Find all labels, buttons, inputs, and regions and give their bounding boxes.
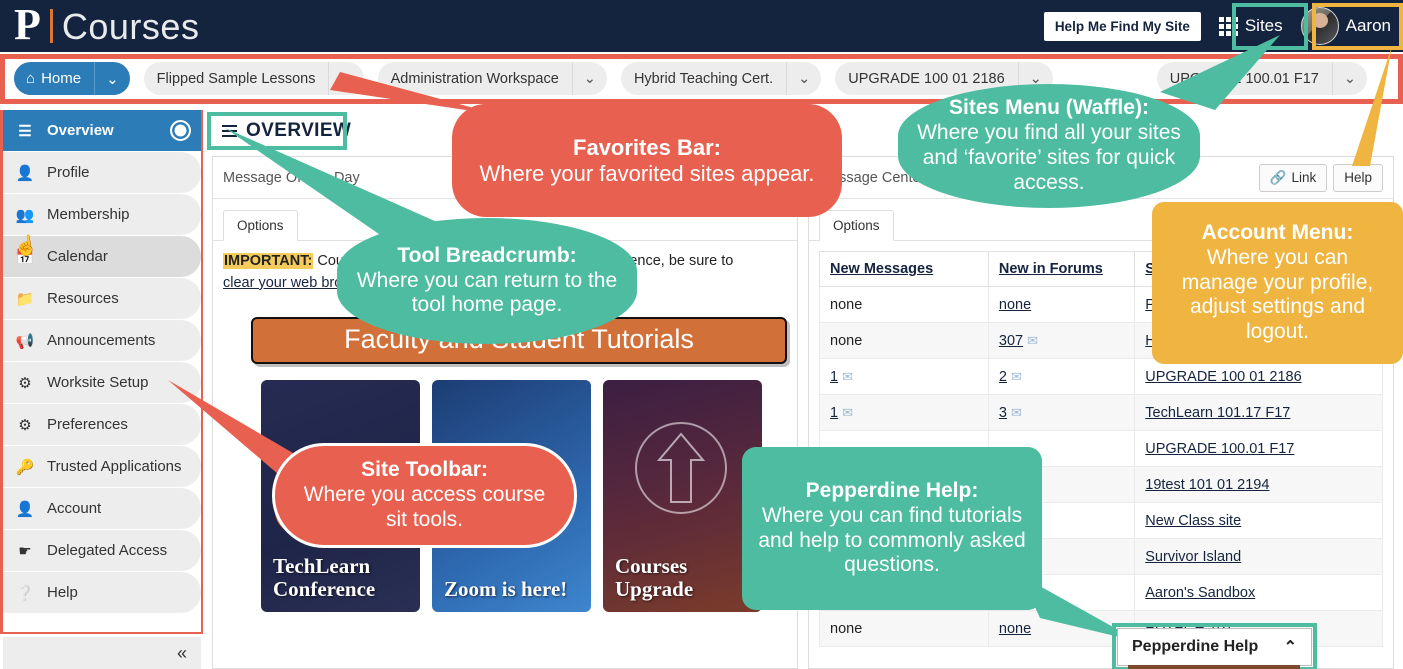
cell-new-in-forums: 307✉ xyxy=(988,323,1134,359)
collapse-chevrons-icon: « xyxy=(177,643,187,664)
site-link[interactable]: New Class site xyxy=(1145,513,1241,529)
cell-new-messages: none xyxy=(820,611,989,647)
home-icon: ⌂ xyxy=(26,70,35,87)
favorite-site-chip-3[interactable]: Hybrid Teaching Cert. ⌄ xyxy=(621,62,821,95)
cell-new-messages: none xyxy=(820,323,989,359)
sidebar-item-label: Worksite Setup xyxy=(47,374,148,391)
chevron-up-icon[interactable]: ⌃ xyxy=(1284,637,1297,657)
promo-card-caption: Courses Upgrade xyxy=(615,555,762,601)
callout-title: Tool Breadcrumb: xyxy=(353,244,621,269)
site-link[interactable]: UPGRADE 100 01 2186 xyxy=(1145,369,1301,385)
link-button[interactable]: 🔗 Link xyxy=(1259,164,1328,192)
screenshot-root: P Courses Help Me Find My Site Sites Aar… xyxy=(0,0,1403,669)
link-icon: 🔗 xyxy=(1270,170,1287,186)
cell-new-in-forums: 3✉ xyxy=(988,395,1134,431)
callout-body: Where you can manage your profile, adjus… xyxy=(1168,246,1387,345)
mouse-cursor-icon: ☝ xyxy=(12,232,39,259)
home-label: Home xyxy=(41,70,81,87)
site-link[interactable]: UPGRADE 100.01 F17 xyxy=(1145,441,1294,457)
cell-new-messages: 1✉ xyxy=(820,395,989,431)
cell-new-messages: 1✉ xyxy=(820,359,989,395)
callout-title: Pepperdine Help: xyxy=(758,479,1026,504)
envelope-icon: ✉ xyxy=(842,405,853,420)
new-forums-link[interactable]: 3 xyxy=(999,405,1007,421)
callout-body: Where you can return to the tool home pa… xyxy=(353,269,621,319)
pepperdine-help-widget[interactable]: Pepperdine Help ⌃ xyxy=(1117,628,1312,666)
favorite-site-label: Hybrid Teaching Cert. xyxy=(621,71,786,87)
callout-title: Sites Menu (Waffle): xyxy=(914,96,1184,121)
sidebar-item-label: Overview xyxy=(47,122,114,139)
callout-account-menu: Account Menu: Where you can manage your … xyxy=(1152,202,1403,364)
people-icon: 👥 xyxy=(15,206,35,224)
cell-site: New Class site xyxy=(1135,503,1383,539)
home-chevron-down-icon[interactable]: ⌄ xyxy=(94,62,130,95)
promo-card-courses-upgrade[interactable]: Courses Upgrade xyxy=(603,380,762,612)
callout-favorites-bar: Favorites Bar: Where your favorited site… xyxy=(452,104,842,217)
sidebar-item-resources[interactable]: 📁 Resources xyxy=(3,278,201,319)
new-messages-link[interactable]: 1 xyxy=(830,369,838,385)
brand-letter: P xyxy=(14,2,41,48)
brand-logo[interactable]: P Courses xyxy=(14,2,199,49)
sidebar-item-announcements[interactable]: 📢 Announcements xyxy=(3,320,201,361)
sidebar-item-delegated-access[interactable]: ☛ Delegated Access xyxy=(3,530,201,571)
brand-word: Courses xyxy=(62,5,200,49)
callout-title: Account Menu: xyxy=(1168,221,1387,246)
callout-site-toolbar: Site Toolbar: Where you access course si… xyxy=(272,443,577,548)
brand-divider xyxy=(50,9,53,43)
sidebar-item-label: Resources xyxy=(47,290,119,307)
promo-card-caption: TechLearn Conference xyxy=(273,555,420,601)
sidebar-collapse-button[interactable]: « xyxy=(3,637,201,669)
sidebar-item-label: Preferences xyxy=(47,416,128,433)
chevron-down-icon[interactable]: ⌄ xyxy=(572,62,607,95)
sidebar-item-label: Announcements xyxy=(47,332,155,349)
envelope-icon: ✉ xyxy=(1027,333,1038,348)
new-forums-link[interactable]: 307 xyxy=(999,333,1023,349)
message-center-options-tab[interactable]: Options xyxy=(819,210,894,241)
person-icon: 👤 xyxy=(15,164,35,182)
account-menu-callout-tail xyxy=(1330,46,1403,226)
column-header-new-in-forums[interactable]: New in Forums xyxy=(988,252,1134,287)
pepperdine-help-label: Pepperdine Help xyxy=(1132,638,1258,656)
sidebar-item-profile[interactable]: 👤 Profile xyxy=(3,152,201,193)
envelope-icon: ✉ xyxy=(842,369,853,384)
chevron-down-icon[interactable]: ⌄ xyxy=(786,62,821,95)
list-icon: ☰ xyxy=(15,122,35,140)
gears-icon: ⚙ xyxy=(15,374,35,392)
up-arrow-icon xyxy=(651,428,711,508)
callout-body: Where your favorited sites appear. xyxy=(468,161,826,187)
question-circle-icon: ❔ xyxy=(15,584,35,602)
cell-site: UPGRADE 100.01 F17 xyxy=(1135,431,1383,467)
person-icon: 👤 xyxy=(15,500,35,518)
callout-sites-menu: Sites Menu (Waffle): Where you find all … xyxy=(898,84,1200,208)
site-link[interactable]: TechLearn 101.17 F17 xyxy=(1145,405,1290,421)
widget-bottom-strip xyxy=(1128,665,1300,669)
site-link[interactable]: 19test 101 01 2194 xyxy=(1145,477,1269,493)
callout-pepperdine-help: Pepperdine Help: Where you can find tuto… xyxy=(742,447,1042,610)
sidebar-item-help[interactable]: ❔ Help xyxy=(3,572,201,613)
new-forums-link[interactable]: none xyxy=(999,297,1031,313)
cell-new-in-forums: none xyxy=(988,287,1134,323)
link-button-label: Link xyxy=(1291,170,1316,185)
cell-new-in-forums: 2✉ xyxy=(988,359,1134,395)
sidebar-item-label: Delegated Access xyxy=(47,542,167,559)
promo-card-caption: Zoom is here! xyxy=(444,578,567,601)
cell-site: TechLearn 101.17 F17 xyxy=(1135,395,1383,431)
hand-point-icon: ☛ xyxy=(15,542,35,560)
overview-toggle-icon[interactable] xyxy=(170,120,191,141)
favorite-site-label: UPGRADE 100 01 2186 xyxy=(835,71,1017,87)
envelope-icon: ✉ xyxy=(1011,405,1022,420)
home-label-wrap: ⌂ Home xyxy=(14,70,94,87)
new-forums-link[interactable]: 2 xyxy=(999,369,1007,385)
favorites-home-button[interactable]: ⌂ Home ⌄ xyxy=(14,62,130,95)
table-row: 1✉3✉TechLearn 101.17 F17 xyxy=(820,395,1383,431)
folder-icon: 📁 xyxy=(15,290,35,308)
sidebar-item-label: Account xyxy=(47,500,101,517)
envelope-icon: ✉ xyxy=(1011,369,1022,384)
account-name-label: Aaron xyxy=(1346,16,1391,36)
new-messages-link[interactable]: 1 xyxy=(830,405,838,421)
cell-site: 19test 101 01 2194 xyxy=(1135,467,1383,503)
cell-new-messages: none xyxy=(820,287,989,323)
sidebar-item-membership[interactable]: 👥 Membership xyxy=(3,194,201,235)
megaphone-icon: 📢 xyxy=(15,332,35,350)
sidebar-item-label: Help xyxy=(47,584,78,601)
callout-body: Where you find all your sites and ‘favor… xyxy=(914,121,1184,195)
gear-icon: ⚙ xyxy=(15,416,35,434)
sidebar-item-label: Membership xyxy=(47,206,130,223)
callout-body: Where you access course sit tools. xyxy=(291,483,558,533)
sidebar-item-label: Calendar xyxy=(47,248,108,265)
callout-tool-breadcrumb: Tool Breadcrumb: Where you can return to… xyxy=(337,218,637,344)
key-icon: 🔑 xyxy=(15,458,35,476)
callout-body: Where you can find tutorials and help to… xyxy=(758,504,1026,578)
sidebar-item-overview[interactable]: ☰ Overview xyxy=(3,110,201,151)
callout-title: Favorites Bar: xyxy=(468,135,826,161)
column-header-new-messages[interactable]: New Messages xyxy=(820,252,989,287)
site-link[interactable]: Survivor Island xyxy=(1145,549,1241,565)
callout-title: Site Toolbar: xyxy=(291,458,558,483)
sidebar-item-label: Profile xyxy=(47,164,90,181)
